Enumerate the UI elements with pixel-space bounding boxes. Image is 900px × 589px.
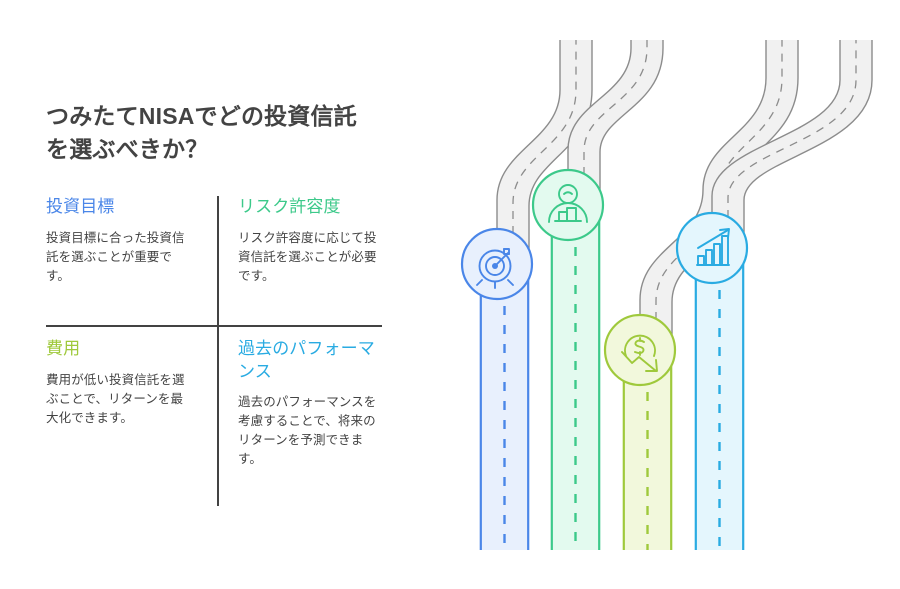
icon-circle-risk-tolerance bbox=[533, 170, 603, 240]
quadrant-body-past-performance: 過去のパフォーマンスを考慮することで、将来のリターンを予測できます。 bbox=[238, 393, 386, 469]
quadrant-investment-goal: 投資目標 投資目標に合った投資信託を選ぶことが重要です。 bbox=[46, 196, 194, 286]
icon-circle-cost bbox=[605, 315, 675, 385]
roads-illustration bbox=[440, 0, 900, 589]
quadrant-heading-investment-goal: 投資目標 bbox=[46, 196, 194, 219]
quadrant-body-investment-goal: 投資目標に合った投資信託を選ぶことが重要です。 bbox=[46, 229, 194, 286]
quadrant-body-cost: 費用が低い投資信託を選ぶことで、リターンを最大化できます。 bbox=[46, 371, 194, 428]
quadrant-cost: 費用 費用が低い投資信託を選ぶことで、リターンを最大化できます。 bbox=[46, 338, 194, 428]
infographic-canvas: つみたてNISAでどの投資信託を選ぶべきか？ 投資目標 投資目標に合った投資信託… bbox=[0, 0, 900, 589]
quadrant-heading-risk-tolerance: リスク許容度 bbox=[238, 196, 386, 219]
page-title: つみたてNISAでどの投資信託を選ぶべきか？ bbox=[46, 100, 376, 165]
quadrant-body-risk-tolerance: リスク許容度に応じて投資信託を選ぶことが必要です。 bbox=[238, 229, 386, 286]
left-content-panel: つみたてNISAでどの投資信託を選ぶべきか？ bbox=[46, 100, 396, 165]
quadrant-heading-cost: 費用 bbox=[46, 338, 194, 361]
icon-circle-past-performance bbox=[677, 213, 747, 283]
quadrant-risk-tolerance: リスク許容度 リスク許容度に応じて投資信託を選ぶことが必要です。 bbox=[238, 196, 386, 286]
quadrant-grid: 投資目標 投資目標に合った投資信託を選ぶことが重要です。 リスク許容度 リスク許… bbox=[46, 196, 386, 516]
quadrant-heading-past-performance: 過去のパフォーマンス bbox=[238, 338, 386, 383]
quadrant-past-performance: 過去のパフォーマンス 過去のパフォーマンスを考慮することで、将来のリターンを予測… bbox=[238, 338, 386, 469]
